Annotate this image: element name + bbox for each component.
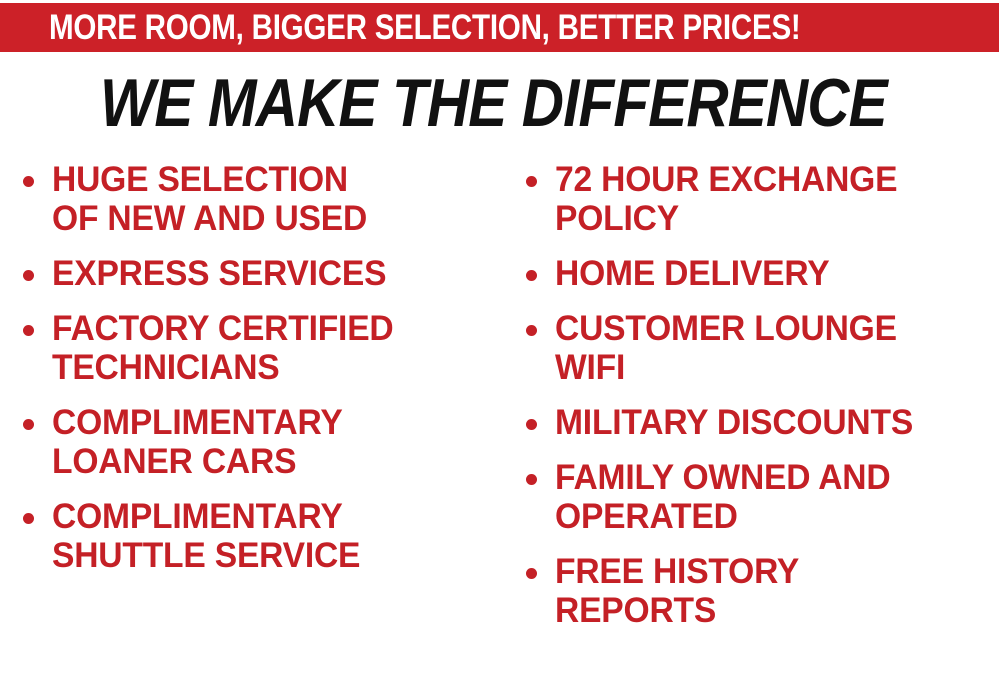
promotional-poster: MORE ROOM, BIGGER SELECTION, BETTER PRIC… — [0, 0, 999, 692]
list-item: HOME DELIVERY — [517, 254, 999, 293]
list-item: EXPRESS SERVICES — [14, 254, 514, 293]
list-item: COMPLIMENTARY SHUTTLE SERVICE — [14, 497, 514, 575]
list-item-label: FACTORY CERTIFIED TECHNICIANS — [52, 309, 496, 387]
list-item-label: COMPLIMENTARY SHUTTLE SERVICE — [52, 497, 496, 575]
list-item-label: FAMILY OWNED AND OPERATED — [555, 458, 981, 536]
list-item: COMPLIMENTARY LOANER CARS — [14, 403, 514, 481]
list-item-label: FREE HISTORY REPORTS — [555, 552, 981, 630]
bullet-dot-icon — [526, 270, 537, 281]
page-title: WE MAKE THE DIFFERENCE — [100, 69, 887, 137]
list-item-label: 72 HOUR EXCHANGE POLICY — [555, 160, 981, 238]
list-item-label: CUSTOMER LOUNGE WIFI — [555, 309, 981, 387]
banner-headline-text: MORE ROOM, BIGGER SELECTION, BETTER PRIC… — [49, 10, 801, 45]
bullet-dot-icon — [526, 325, 537, 336]
bullet-dot-icon — [23, 270, 34, 281]
list-item: HUGE SELECTION OF NEW AND USED — [14, 160, 514, 238]
list-item: CUSTOMER LOUNGE WIFI — [517, 309, 999, 387]
top-banner: MORE ROOM, BIGGER SELECTION, BETTER PRIC… — [0, 3, 999, 52]
features-column-left: HUGE SELECTION OF NEW AND USED EXPRESS S… — [14, 160, 514, 591]
bullet-dot-icon — [23, 513, 34, 524]
bullet-dot-icon — [526, 474, 537, 485]
list-item-label: MILITARY DISCOUNTS — [555, 403, 981, 442]
bullet-dot-icon — [23, 176, 34, 187]
list-item-label: HUGE SELECTION OF NEW AND USED — [52, 160, 496, 238]
bullet-dot-icon — [23, 325, 34, 336]
list-item-label: EXPRESS SERVICES — [52, 254, 496, 293]
bullet-dot-icon — [23, 419, 34, 430]
features-column-right: 72 HOUR EXCHANGE POLICY HOME DELIVERY CU… — [517, 160, 999, 646]
list-item-label: COMPLIMENTARY LOANER CARS — [52, 403, 496, 481]
list-item: FREE HISTORY REPORTS — [517, 552, 999, 630]
list-item: MILITARY DISCOUNTS — [517, 403, 999, 442]
bullet-dot-icon — [526, 419, 537, 430]
list-item: FAMILY OWNED AND OPERATED — [517, 458, 999, 536]
list-item: FACTORY CERTIFIED TECHNICIANS — [14, 309, 514, 387]
list-item: 72 HOUR EXCHANGE POLICY — [517, 160, 999, 238]
list-item-label: HOME DELIVERY — [555, 254, 981, 293]
bullet-dot-icon — [526, 568, 537, 579]
bullet-dot-icon — [526, 176, 537, 187]
